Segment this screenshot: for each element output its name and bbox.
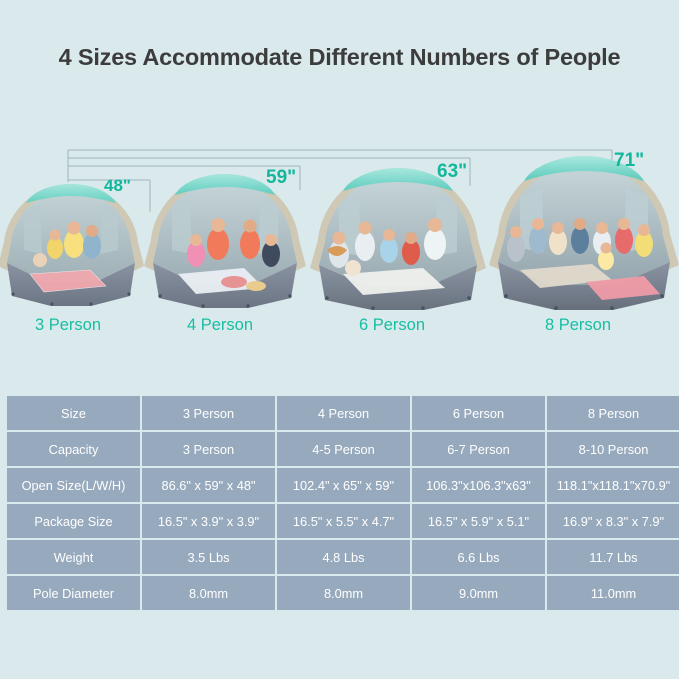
row-label-weight: Weight (7, 540, 140, 574)
cell-capacity-8: 8-10 Person (547, 432, 679, 466)
row-label-package-size: Package Size (7, 504, 140, 538)
table-row: Pole Diameter 8.0mm 8.0mm 9.0mm 11.0mm (7, 576, 679, 610)
cell-open-size-8: 118.1"x118.1"x70.9" (547, 468, 679, 502)
cell-size-8: 8 Person (547, 396, 679, 430)
cell-pole-diameter-3: 8.0mm (142, 576, 275, 610)
table-row: Open Size(L/W/H) 86.6" x 59" x 48" 102.4… (7, 468, 679, 502)
row-label-size: Size (7, 396, 140, 430)
cell-size-4: 4 Person (277, 396, 410, 430)
height-label-6-person: 63" (437, 161, 467, 183)
tent-illustration-row: 48" 3 Person (0, 0, 679, 310)
table-row: Size 3 Person 4 Person 6 Person 8 Person (7, 396, 679, 430)
cell-pole-diameter-6: 9.0mm (412, 576, 545, 610)
table-row: Weight 3.5 Lbs 4.8 Lbs 6.6 Lbs 11.7 Lbs (7, 540, 679, 574)
tent-label-3-person: 3 Person (8, 316, 128, 335)
row-label-open-size: Open Size(L/W/H) (7, 468, 140, 502)
tent-8-person (482, 148, 679, 313)
cell-capacity-3: 3 Person (142, 432, 275, 466)
cell-package-size-6: 16.5" x 5.9" x 5.1" (412, 504, 545, 538)
cell-open-size-4: 102.4" x 65" x 59" (277, 468, 410, 502)
table-row: Package Size 16.5" x 3.9" x 3.9" 16.5" x… (7, 504, 679, 538)
tent-label-4-person: 4 Person (160, 316, 280, 335)
height-label-8-person: 71" (614, 150, 644, 172)
spec-table: Size 3 Person 4 Person 6 Person 8 Person… (5, 394, 679, 612)
cell-capacity-4: 4-5 Person (277, 432, 410, 466)
cell-pole-diameter-8: 11.0mm (547, 576, 679, 610)
row-label-capacity: Capacity (7, 432, 140, 466)
cell-package-size-8: 16.9" x 8.3" x 7.9" (547, 504, 679, 538)
cell-size-6: 6 Person (412, 396, 545, 430)
cell-open-size-6: 106.3"x106.3"x63" (412, 468, 545, 502)
cell-weight-3: 3.5 Lbs (142, 540, 275, 574)
height-label-3-person: 48" (104, 176, 131, 196)
cell-open-size-3: 86.6" x 59" x 48" (142, 468, 275, 502)
row-label-pole-diameter: Pole Diameter (7, 576, 140, 610)
sun-hat (246, 281, 266, 291)
cell-weight-6: 6.6 Lbs (412, 540, 545, 574)
tent-label-8-person: 8 Person (518, 316, 638, 335)
infographic-page: 4 Sizes Accommodate Different Numbers of… (0, 0, 679, 679)
tent-label-6-person: 6 Person (332, 316, 452, 335)
height-label-4-person: 59" (266, 167, 296, 189)
cell-weight-8: 11.7 Lbs (547, 540, 679, 574)
cell-package-size-3: 16.5" x 3.9" x 3.9" (142, 504, 275, 538)
cell-weight-4: 4.8 Lbs (277, 540, 410, 574)
cell-size-3: 3 Person (142, 396, 275, 430)
table-row: Capacity 3 Person 4-5 Person 6-7 Person … (7, 432, 679, 466)
cell-package-size-4: 16.5" x 5.5" x 4.7" (277, 504, 410, 538)
cell-pole-diameter-4: 8.0mm (277, 576, 410, 610)
cell-capacity-6: 6-7 Person (412, 432, 545, 466)
